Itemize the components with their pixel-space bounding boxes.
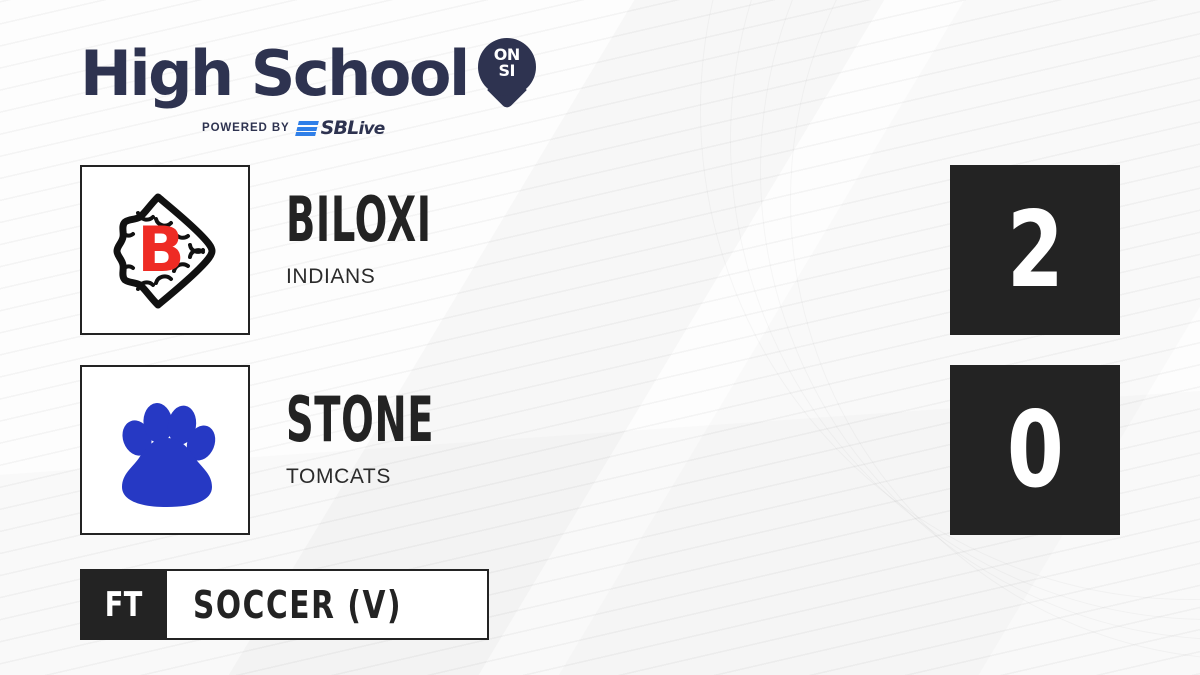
team-mascot: INDIANS (286, 265, 521, 289)
team-name: BILOXI (286, 189, 432, 251)
score-box-stone: 0 (950, 365, 1120, 535)
score-value: 0 (1007, 398, 1063, 503)
svg-text:B: B (137, 213, 184, 286)
paw-print-logo-icon (101, 386, 229, 514)
powered-by-row: POWERED BY SBLive (80, 117, 536, 139)
game-status-label: FT (105, 585, 143, 625)
on-si-pin-icon: ON SI (478, 38, 536, 110)
team-text-stone: STONE TOMCATS (286, 389, 525, 489)
powered-by-label: POWERED BY (202, 122, 290, 134)
team-logo-box-biloxi: B (80, 165, 250, 335)
team-name: STONE (286, 389, 434, 451)
pin-label-line2: SI (478, 63, 536, 79)
page-title: High School (80, 45, 468, 104)
sblive-name: SBL (321, 117, 359, 139)
scoreboard-graphic: High School ON SI POWERED BY SBLive B (0, 0, 1200, 675)
pin-label: ON SI (478, 47, 536, 78)
arrowhead-b-logo-icon: B (98, 183, 232, 317)
brand-row: High School ON SI (80, 38, 536, 110)
sblive-suffix: ive (358, 119, 384, 139)
game-status-badge: FT (80, 569, 167, 640)
status-bar: FT SOCCER (V) (80, 569, 489, 640)
score-box-biloxi: 2 (950, 165, 1120, 335)
background-band-2 (484, 0, 1200, 675)
sport-label-panel: SOCCER (V) (167, 569, 489, 640)
sblive-wordmark: SBLive (321, 117, 385, 139)
sport-label: SOCCER (V) (193, 583, 402, 627)
brand-header: High School ON SI POWERED BY SBLive (80, 38, 536, 139)
sblive-mark-icon (295, 121, 319, 136)
team-text-biloxi: BILOXI INDIANS (286, 189, 521, 289)
team-mascot: TOMCATS (286, 465, 525, 489)
team-logo-box-stone (80, 365, 250, 535)
score-value: 2 (1007, 198, 1063, 303)
